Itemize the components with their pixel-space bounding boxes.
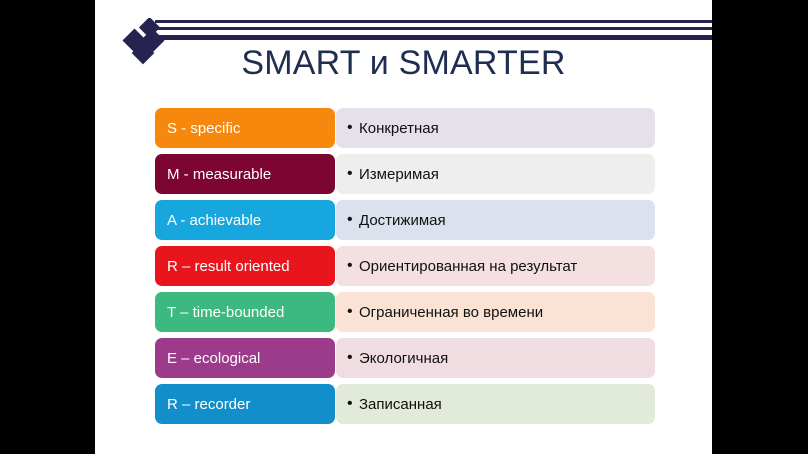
table-row: A - achievable • Достижимая [155, 200, 655, 240]
slide-header: SMART и SMARTER [95, 0, 712, 98]
table-row: E – ecological • Экологичная [155, 338, 655, 378]
smart-key-label: R – recorder [167, 396, 250, 413]
smart-value-achievable: • Достижимая [336, 200, 655, 240]
page-title: SMART и SMARTER [95, 44, 712, 83]
header-rule-middle [155, 27, 712, 30]
table-row: M - measurable • Измеримая [155, 154, 655, 194]
smart-key-label: R – result oriented [167, 258, 290, 275]
smart-value-measurable: • Измеримая [336, 154, 655, 194]
smart-value-result-oriented: • Ориентированная на результат [336, 246, 655, 286]
smart-value-label: Ограниченная во времени [359, 304, 543, 321]
header-rules [155, 20, 712, 46]
letterbox-right [712, 0, 808, 454]
smart-value-label: Измеримая [359, 166, 439, 183]
smart-key-result-oriented: R – result oriented [155, 246, 335, 286]
smart-key-label: T – time-bounded [167, 304, 284, 321]
smart-key-measurable: M - measurable [155, 154, 335, 194]
smart-value-label: Ориентированная на результат [359, 258, 577, 275]
slide-canvas: SMART и SMARTER S - specific • Конкретна… [95, 0, 712, 454]
table-row: R – recorder • Записанная [155, 384, 655, 424]
smart-key-recorder: R – recorder [155, 384, 335, 424]
smart-value-time-bounded: • Ограниченная во времени [336, 292, 655, 332]
smart-key-label: M - measurable [167, 166, 271, 183]
smart-key-achievable: A - achievable [155, 200, 335, 240]
bullet-icon: • [347, 258, 359, 274]
header-rule-bottom [155, 35, 712, 40]
letterbox-left [0, 0, 95, 454]
smart-value-label: Конкретная [359, 120, 439, 137]
smart-value-ecological: • Экологичная [336, 338, 655, 378]
smart-value-label: Экологичная [359, 350, 448, 367]
header-rule-top [155, 20, 712, 23]
table-row: S - specific • Конкретная [155, 108, 655, 148]
bullet-icon: • [347, 212, 359, 228]
smart-value-specific: • Конкретная [336, 108, 655, 148]
smart-table: S - specific • Конкретная M - measurable… [155, 108, 655, 424]
bullet-icon: • [347, 304, 359, 320]
smart-key-ecological: E – ecological [155, 338, 335, 378]
smart-value-label: Записанная [359, 396, 442, 413]
smart-key-label: E – ecological [167, 350, 260, 367]
smart-key-label: S - specific [167, 120, 240, 137]
bullet-icon: • [347, 350, 359, 366]
smart-value-recorder: • Записанная [336, 384, 655, 424]
bullet-icon: • [347, 120, 359, 136]
bullet-icon: • [347, 396, 359, 412]
slide-viewer: SMART и SMARTER S - specific • Конкретна… [0, 0, 808, 454]
smart-value-label: Достижимая [359, 212, 446, 229]
smart-key-specific: S - specific [155, 108, 335, 148]
bullet-icon: • [347, 166, 359, 182]
smart-key-label: A - achievable [167, 212, 261, 229]
table-row: R – result oriented • Ориентированная на… [155, 246, 655, 286]
smart-key-time-bounded: T – time-bounded [155, 292, 335, 332]
table-row: T – time-bounded • Ограниченная во време… [155, 292, 655, 332]
